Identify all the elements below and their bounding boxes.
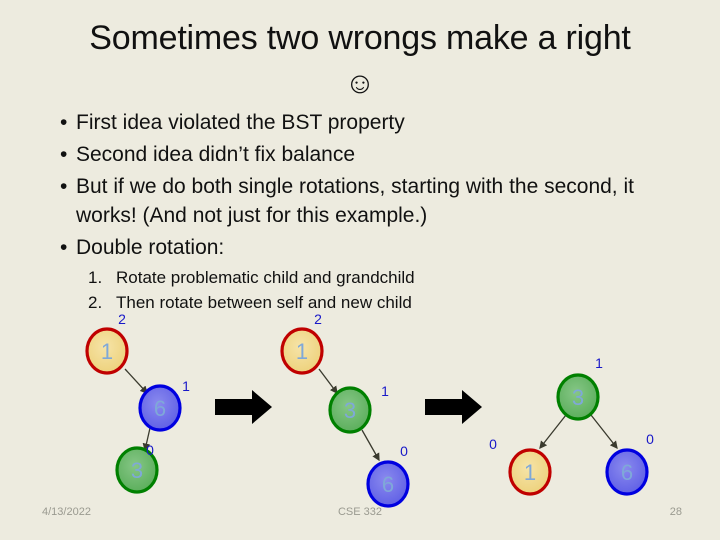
numbered-item-text: Rotate problematic child and grandchild	[116, 265, 678, 290]
tree-edge	[591, 415, 617, 448]
tree-edge	[540, 415, 566, 448]
node-height-label: 0	[400, 443, 408, 459]
tree-edge	[125, 369, 147, 393]
node-height-label: 2	[314, 311, 322, 327]
node-value: 6	[382, 472, 394, 497]
tree-node[interactable]: 6	[368, 462, 408, 506]
slide-footer: 4/13/2022 CSE 332 28	[0, 505, 720, 525]
slide-canvas: Sometimes two wrongs make a right ☺ • Fi…	[0, 0, 720, 540]
node-value: 3	[572, 385, 584, 410]
node-value: 6	[154, 396, 166, 421]
node-value: 1	[296, 339, 308, 364]
node-value: 3	[131, 458, 143, 483]
tree-node[interactable]: 6	[607, 450, 647, 494]
list-item: • But if we do both single rotations, st…	[52, 172, 678, 230]
bullet-text: Second idea didn’t fix balance	[76, 140, 678, 169]
list-item: • First idea violated the BST property	[52, 108, 678, 137]
node-height-label: 0	[146, 442, 154, 458]
transition-arrow-1	[215, 390, 272, 424]
node-height-label: 1	[381, 383, 389, 399]
tree-middle: 1 2 3 1 6 0	[282, 311, 408, 506]
node-value: 1	[524, 460, 536, 485]
bullet-text: Double rotation:	[76, 233, 678, 262]
node-height-label: 1	[182, 378, 190, 394]
tree-edge	[319, 369, 337, 393]
tree-node[interactable]: 6	[140, 386, 180, 430]
list-item: • Double rotation:	[52, 233, 678, 262]
number-marker: 1.	[88, 265, 116, 290]
bullet-list: • First idea violated the BST property •…	[52, 108, 678, 315]
bullet-text: First idea violated the BST property	[76, 108, 678, 137]
bullet-marker-icon: •	[52, 172, 76, 201]
tree-node[interactable]: 1	[87, 329, 127, 373]
list-item: • Second idea didn’t fix balance	[52, 140, 678, 169]
transition-arrow-2	[425, 390, 482, 424]
double-rotation-diagram: 1 2 6 1 3 0	[0, 300, 720, 510]
tree-edge	[362, 430, 379, 460]
bullet-marker-icon: •	[52, 233, 76, 262]
footer-course: CSE 332	[0, 505, 720, 519]
node-height-label: 0	[489, 436, 497, 452]
tree-before: 1 2 6 1 3 0	[87, 311, 190, 492]
bullet-marker-icon: •	[52, 140, 76, 169]
node-value: 6	[621, 460, 633, 485]
smiley-face-icon: ☺	[0, 68, 720, 100]
node-height-label: 2	[118, 311, 126, 327]
node-height-label: 0	[646, 431, 654, 447]
tree-after: 3 1 1 0 6 0	[489, 355, 654, 494]
page-title: Sometimes two wrongs make a right	[0, 18, 720, 58]
footer-page-number: 28	[670, 505, 682, 519]
node-value: 1	[101, 339, 113, 364]
tree-node[interactable]: 1	[282, 329, 322, 373]
bullet-text: But if we do both single rotations, star…	[76, 172, 678, 230]
node-height-label: 1	[595, 355, 603, 371]
list-item: 1. Rotate problematic child and grandchi…	[88, 265, 678, 290]
node-value: 3	[344, 398, 356, 423]
bullet-marker-icon: •	[52, 108, 76, 137]
tree-node[interactable]: 3	[330, 388, 370, 432]
tree-node[interactable]: 1	[510, 450, 550, 494]
tree-node[interactable]: 3	[558, 375, 598, 419]
